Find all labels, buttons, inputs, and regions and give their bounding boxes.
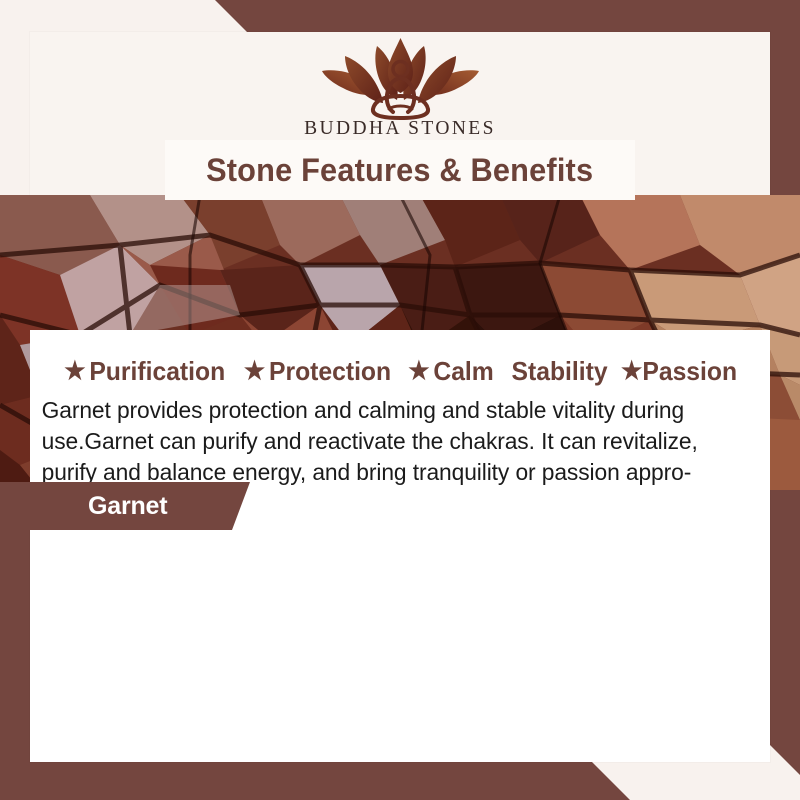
star-icon: ★	[64, 359, 85, 384]
benefit-item-protection: ★ Protection	[244, 356, 391, 387]
stone-name: Garnet	[0, 492, 167, 521]
page-title: Stone Features & Benefits	[206, 152, 593, 189]
benefit-item-stability: Stability	[512, 356, 608, 387]
benefit-label: Protection	[269, 356, 391, 387]
benefit-label: Calm	[433, 356, 493, 387]
poster-root: BUDDHA STONES Stone Features & Benefits	[0, 0, 800, 800]
benefit-item-purification: ★ Purification	[64, 356, 225, 387]
benefit-label: Purification	[89, 356, 225, 387]
stone-name-label: Garnet	[0, 482, 250, 530]
benefits-list: ★ Purification ★ Protection ★ Calm Stabi…	[30, 330, 770, 393]
brand-name: BUDDHA STONES	[304, 118, 496, 140]
poster-card: BUDDHA STONES Stone Features & Benefits	[30, 32, 770, 762]
frame-bottom-bar	[0, 762, 800, 800]
star-icon: ★	[408, 359, 429, 384]
content-panel: ★ Purification ★ Protection ★ Calm Stabi…	[30, 330, 770, 762]
benefit-label: Stability	[512, 356, 608, 387]
benefit-item-passion: ★ Passion	[621, 356, 737, 387]
star-icon: ★	[244, 359, 265, 384]
brand-logo: BUDDHA STONES	[30, 32, 770, 152]
page-title-band: Stone Features & Benefits	[165, 140, 635, 200]
star-icon: ★	[621, 359, 642, 384]
benefit-label: Passion	[643, 356, 738, 387]
lotus-buddha-icon	[313, 34, 488, 122]
benefit-item-calm: ★ Calm	[408, 356, 494, 387]
